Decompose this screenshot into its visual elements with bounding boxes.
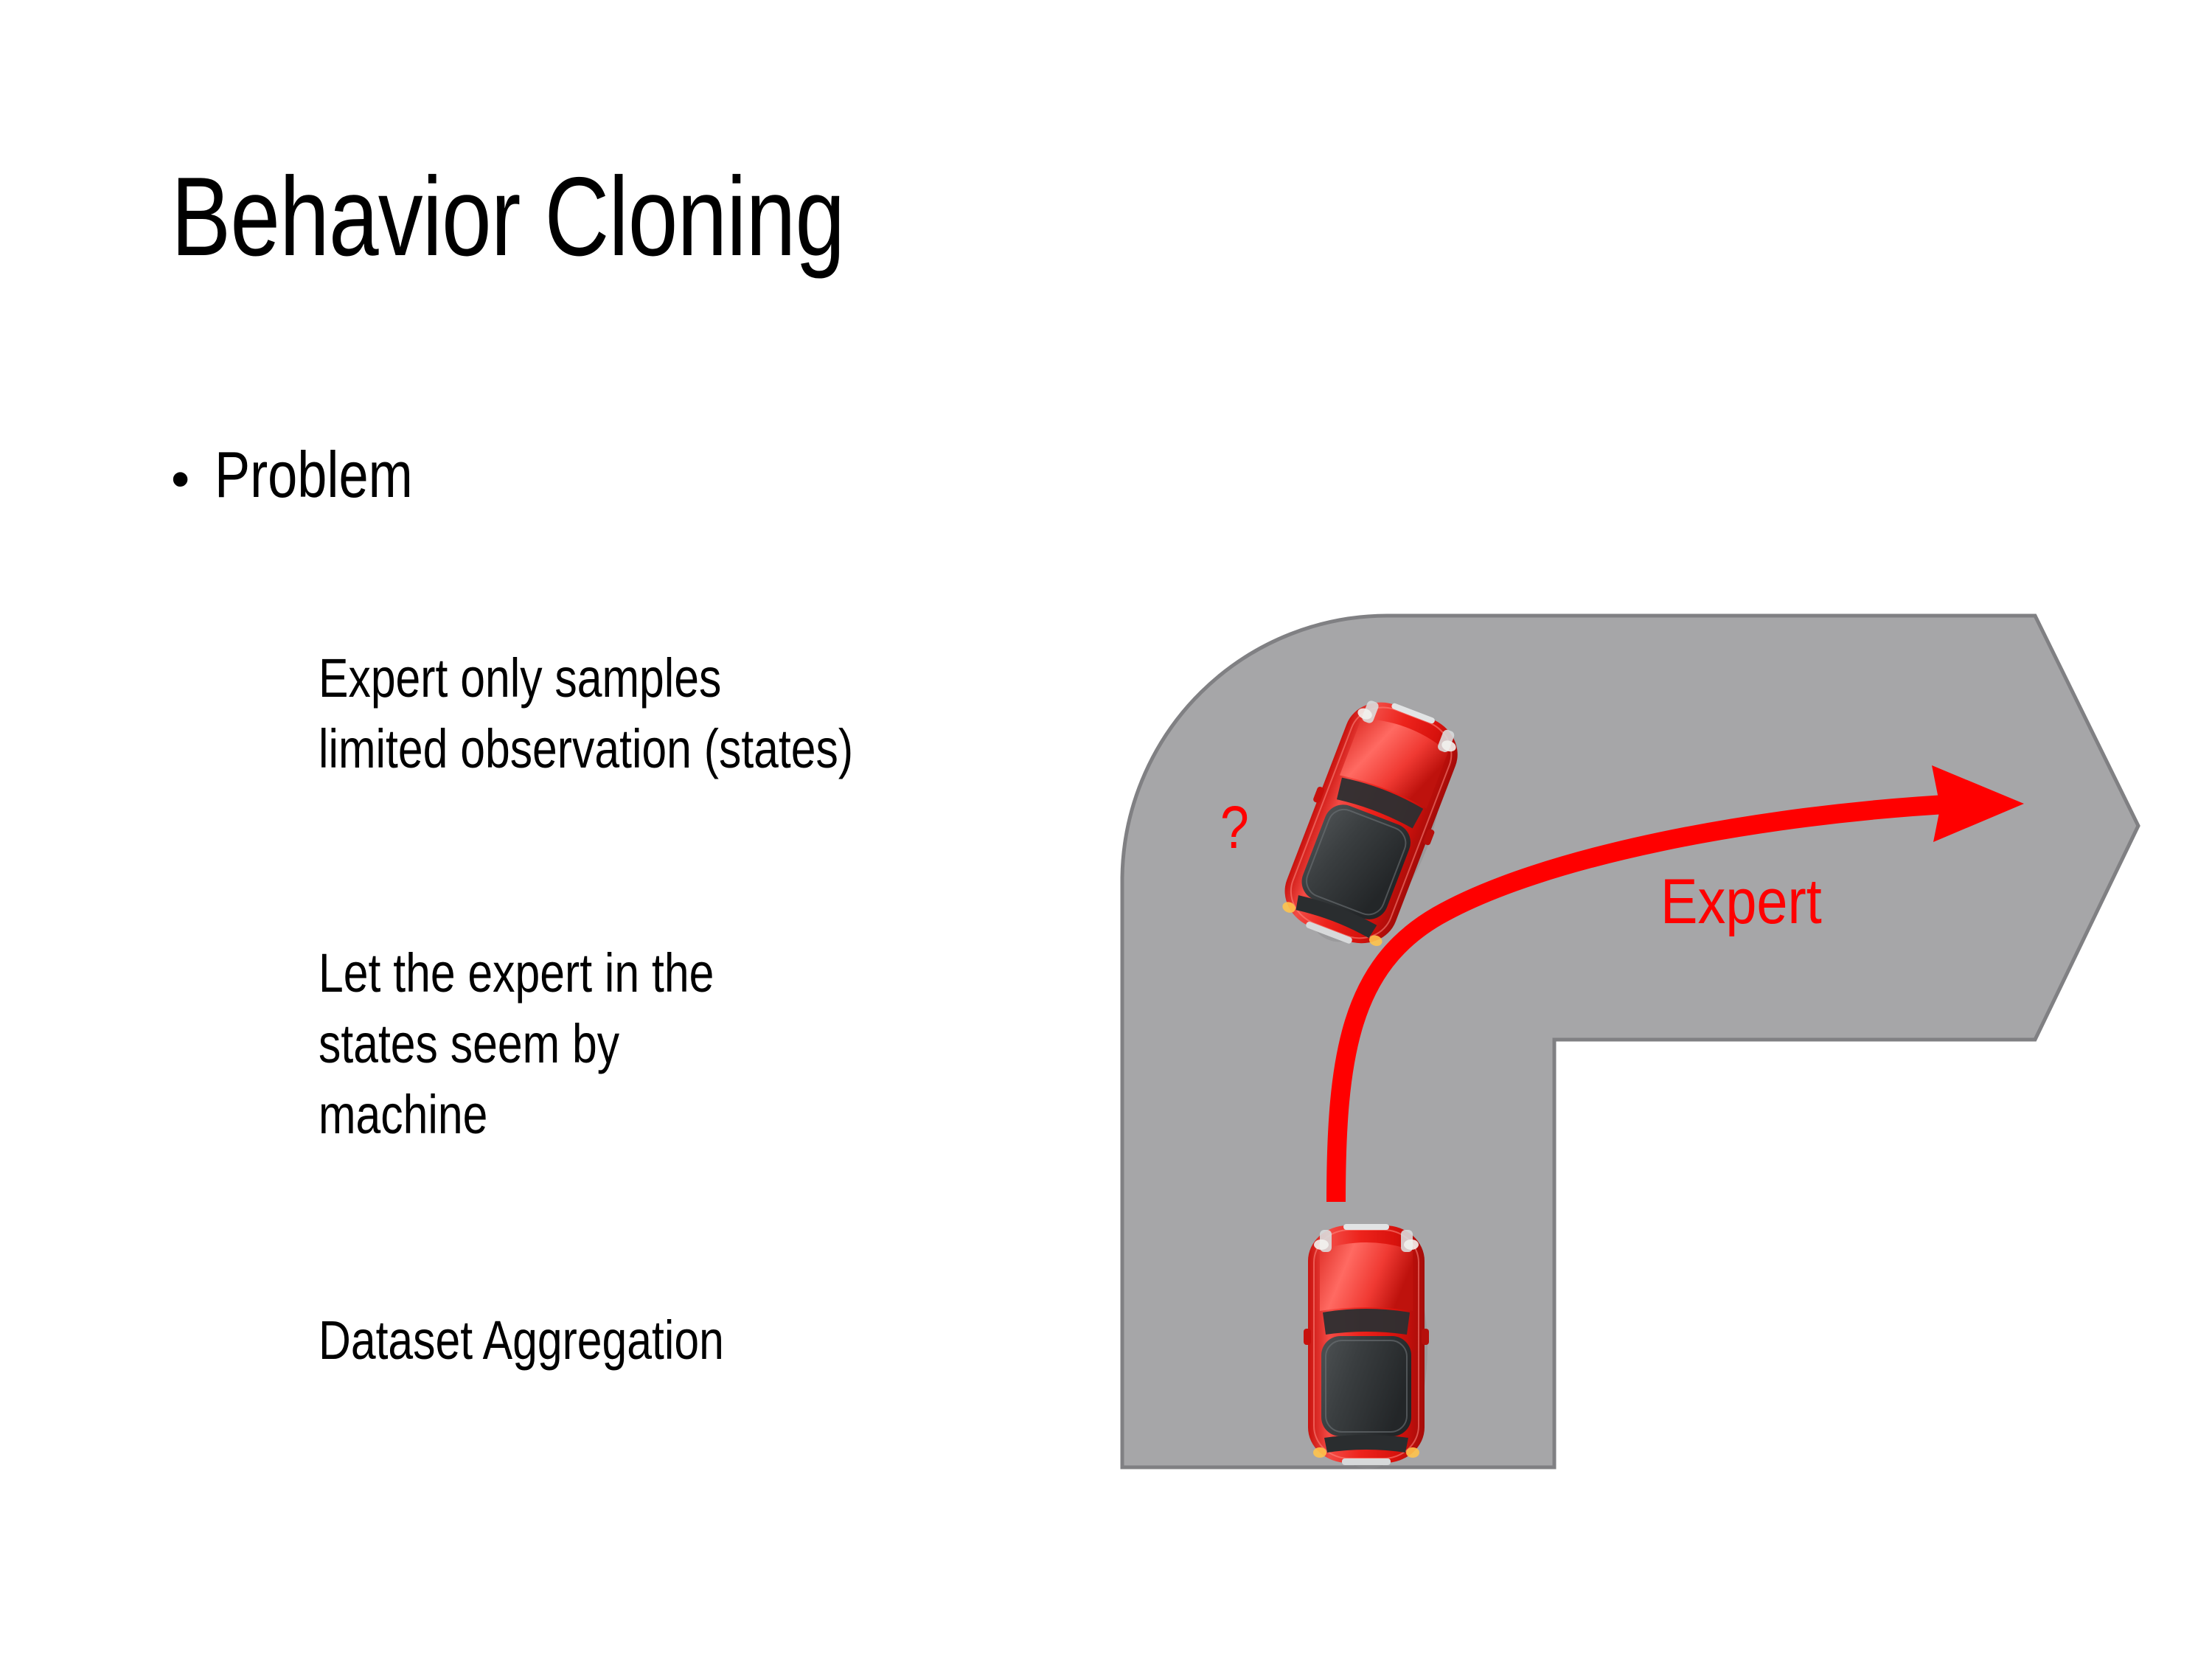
bullet-item-problem: • Problem	[171, 442, 456, 507]
bullet-item-label: Problem	[215, 442, 413, 507]
body-paragraph-2: Let the expert in the states seem by mac…	[319, 938, 863, 1151]
expert-trajectory-label: Expert	[1660, 870, 1822, 933]
question-mark-annotation: ?	[1220, 798, 1249, 858]
ego-car	[1304, 1218, 1429, 1469]
body-paragraph-1: Expert only samples limited observation …	[319, 643, 863, 785]
page-title: Behavior Cloning	[171, 159, 844, 276]
bullet-dot-icon: •	[171, 453, 189, 506]
road-turn-illustration	[1091, 582, 2168, 1512]
road-svg	[1091, 582, 2168, 1512]
body-paragraph-3: Dataset Aggregation	[319, 1305, 863, 1376]
slide-canvas: Behavior Cloning • Problem Expert only s…	[0, 0, 2212, 1659]
car-top-view-icon	[1304, 1218, 1429, 1469]
road-surface	[1122, 616, 2138, 1467]
